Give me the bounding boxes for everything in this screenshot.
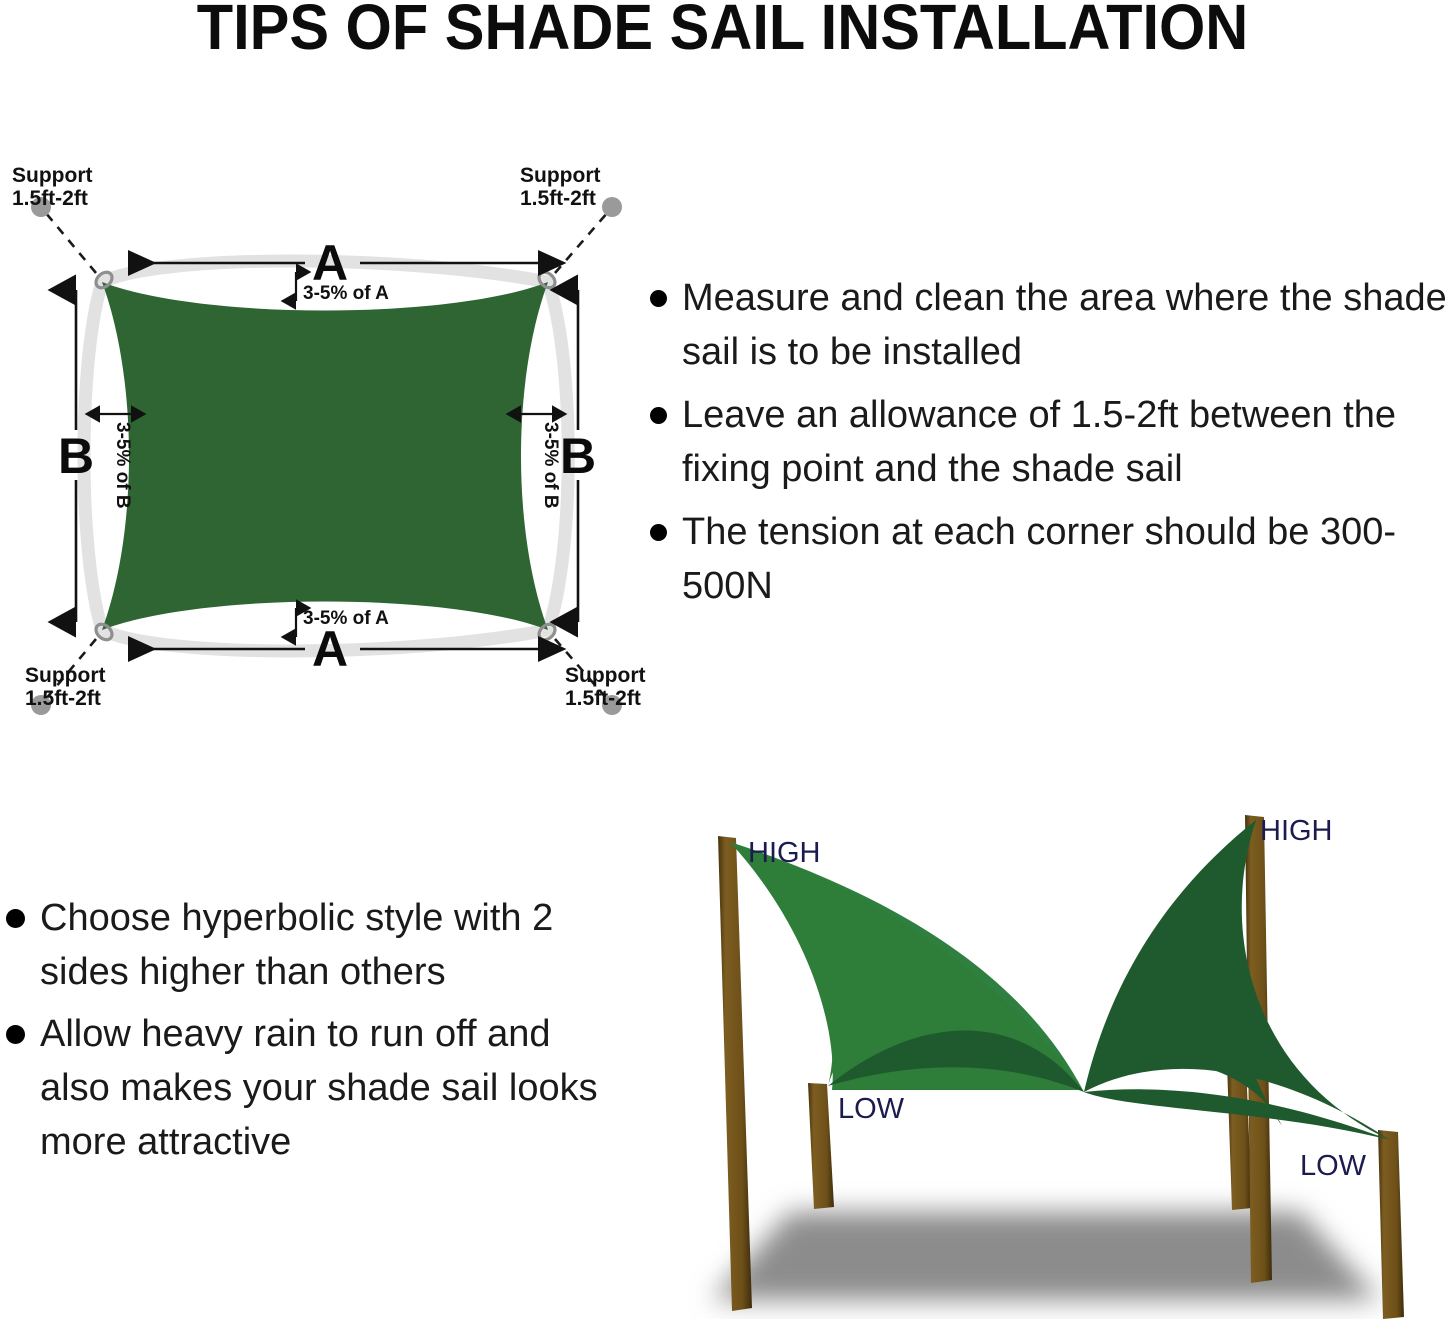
post-label-high-left: HIGH <box>748 837 821 869</box>
tips-list-top: Measure and clean the area where the sha… <box>650 272 1445 623</box>
list-item-label: Leave an allowance of 1.5-2ft between th… <box>682 389 1445 497</box>
list-item: Choose hyperbolic style with 2 sides hig… <box>6 892 626 1000</box>
list-item-label: Measure and clean the area where the sha… <box>682 272 1445 380</box>
list-item: Leave an allowance of 1.5-2ft between th… <box>650 389 1445 497</box>
hyperbolic-sail-diagram: HIGH HIGH LOW LOW <box>660 780 1445 1319</box>
rectangular-sail-diagram: Support 1.5ft-2ft Support 1.5ft-2ft Supp… <box>0 160 660 740</box>
bullet-dot-icon <box>6 1025 25 1044</box>
curvature-label-left: 3-5% of B <box>112 422 133 509</box>
support-label-line2: 1.5ft-2ft <box>565 687 641 710</box>
list-item: The tension at each corner should be 300… <box>650 506 1445 614</box>
support-label-line1: Support <box>25 664 105 687</box>
post-label-low-right: LOW <box>1300 1150 1367 1182</box>
bullet-dot-icon <box>650 407 667 424</box>
support-label-bottom-right: Support 1.5ft-2ft <box>565 664 645 710</box>
list-item-label: The tension at each corner should be 300… <box>682 506 1445 614</box>
support-label-line1: Support <box>565 664 645 687</box>
curvature-label-top: 3-5% of A <box>303 283 389 304</box>
support-label-line1: Support <box>520 164 600 187</box>
page-title: TIPS OF SHADE SAIL INSTALLATION <box>51 0 1395 62</box>
bullet-dot-icon <box>6 909 25 928</box>
support-label-line1: Support <box>12 164 92 187</box>
support-label-bottom-left: Support 1.5ft-2ft <box>25 664 105 710</box>
support-label-top-left: Support 1.5ft-2ft <box>12 164 92 210</box>
support-label-line2: 1.5ft-2ft <box>25 687 101 710</box>
curvature-label-right: 3-5% of B <box>540 422 561 509</box>
shade-sail-body <box>102 282 548 630</box>
dimension-label-A-bottom: A <box>312 621 348 677</box>
list-item-label: Allow heavy rain to run off and also mak… <box>40 1008 626 1170</box>
ground-shadow <box>712 1212 1380 1300</box>
support-label-top-right: Support 1.5ft-2ft <box>520 164 600 210</box>
list-item: Allow heavy rain to run off and also mak… <box>6 1008 626 1170</box>
list-item: Measure and clean the area where the sha… <box>650 272 1445 380</box>
list-item-label: Choose hyperbolic style with 2 sides hig… <box>40 892 626 1000</box>
bullet-dot-icon <box>650 524 667 541</box>
support-label-line2: 1.5ft-2ft <box>520 187 596 210</box>
curvature-label-bottom: 3-5% of A <box>303 608 389 629</box>
post-label-low-left: LOW <box>838 1093 905 1125</box>
post-label-high-right: HIGH <box>1260 815 1333 847</box>
dimension-label-B-left: B <box>58 428 94 484</box>
tips-list-bottom: Choose hyperbolic style with 2 sides hig… <box>6 892 626 1178</box>
support-label-line2: 1.5ft-2ft <box>12 187 88 210</box>
bullet-dot-icon <box>650 290 667 307</box>
dimension-label-B-right: B <box>560 428 596 484</box>
